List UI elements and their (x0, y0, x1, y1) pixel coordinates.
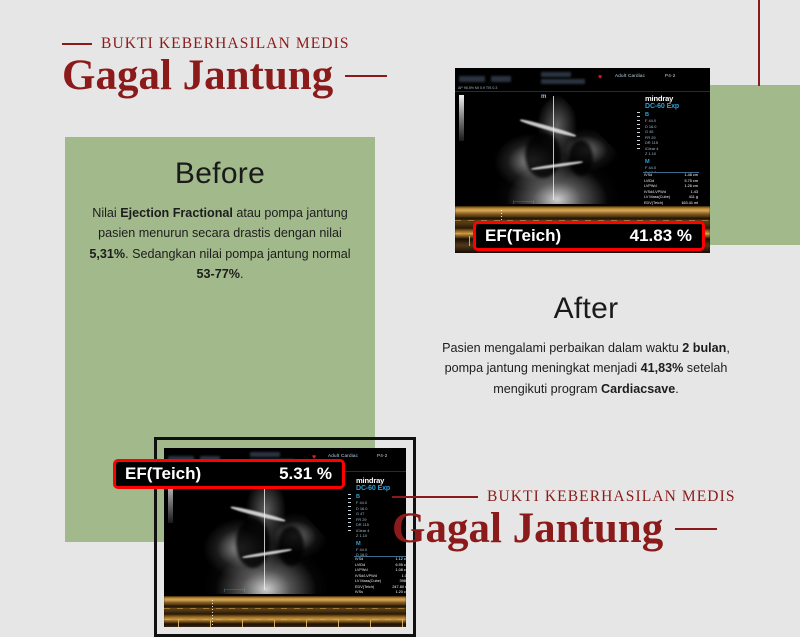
param-2d-6-top: Z 1.10 (645, 151, 699, 157)
ef-label-before: EF(Teich) (125, 464, 201, 484)
kicker-text-bottom: BUKTI KEBERHASILAN MEDIS (487, 488, 736, 506)
echo-sector-top (477, 92, 637, 204)
kicker-text-top: BUKTI KEBERHASILAN MEDIS (101, 35, 350, 53)
before-heading: Before (79, 157, 361, 191)
kicker-row-bottom: BUKTI KEBERHASILAN MEDIS (392, 487, 736, 507)
before-text-3: . Sedangkan nilai pompa jantung normal (125, 247, 350, 261)
echo-chamber-a (525, 132, 561, 178)
decorative-green-block-top-right (705, 85, 800, 245)
topbar-chip-b (491, 76, 511, 82)
kicker-row-top: BUKTI KEBERHASILAN MEDIS (62, 34, 387, 54)
before-bold-2: 5,31% (89, 247, 125, 261)
after-text-4: . (675, 382, 679, 396)
m-mode-band-1 (455, 206, 710, 218)
echo-chamber-b (569, 140, 593, 176)
topbar-chip-d (541, 79, 585, 84)
caliper-readout-top: |−−−−−−−−−| (513, 200, 534, 204)
m-marker-top: m (541, 94, 546, 100)
param-column-top: mindray DC-60 Exp B F 44.0 D 16.0 G 45 F… (645, 94, 699, 176)
before-bold-1: Ejection Fractional (120, 206, 233, 220)
after-bold-2: 41,83% (641, 361, 684, 375)
acquisition-text-top: AP 96.5% MI 0.9 TIS 0.3 (458, 86, 497, 90)
depth-ticks-top (637, 112, 641, 152)
after-panel: After Pasien mengalami perbaikan dalam w… (430, 288, 742, 399)
probe-label-bottom: P4-2 (377, 453, 388, 458)
m-mode-cursor-line-top (553, 96, 554, 200)
kicker-rule-left-icon (62, 43, 92, 45)
topbar-chip-c (250, 452, 280, 457)
brand-model-top: DC-60 Exp (645, 103, 699, 110)
kicker-rule-left-icon (392, 496, 478, 498)
heart-icon: ♥ (598, 74, 602, 81)
ecg-trace-bottom (164, 620, 406, 627)
page-title-top: Gagal Jantung (62, 52, 333, 100)
before-text-4: . (240, 267, 244, 281)
echo-chamber-b (278, 526, 304, 566)
before-text-1: Nilai (92, 206, 120, 220)
ultrasound-top-topbar: ♥ Adult Cardiac P4-2 (455, 68, 710, 85)
m-mode-strip-bottom (164, 596, 406, 627)
before-bold-3: 53-77% (197, 267, 240, 281)
ef-value-before: 5.31 % (279, 464, 332, 484)
before-body: Nilai Ejection Fractional atau pompa jan… (79, 203, 361, 285)
brand-name-bottom: mindray (356, 476, 406, 485)
brand-name-top: mindray (645, 94, 699, 103)
preset-label-top: Adult Cardiac (615, 73, 645, 78)
grayscale-bar-top (459, 95, 464, 141)
page-title-bottom: Gagal Jantung (392, 505, 663, 553)
ef-value-after: 41.83 % (630, 226, 692, 246)
after-body: Pasien mengalami perbaikan dalam waktu 2… (430, 338, 742, 399)
depth-ticks-bottom (348, 494, 352, 534)
topbar-chip-a (459, 76, 485, 82)
probe-label-top: P4-2 (665, 73, 676, 78)
ef-callout-after: EF(Teich) 41.83 % (473, 221, 705, 251)
after-text-1: Pasien mengalami perbaikan dalam waktu (442, 341, 682, 355)
title-rule-right-icon (675, 528, 717, 530)
m-mode-band-1 (164, 596, 406, 606)
headline-top: BUKTI KEBERHASILAN MEDIS Gagal Jantung (62, 34, 387, 100)
headline-bottom: BUKTI KEBERHASILAN MEDIS Gagal Jantung (392, 487, 736, 553)
caliper-readout-bottom: |−−−−−−−−−| (224, 588, 245, 592)
ef-label-after: EF(Teich) (485, 226, 561, 246)
preset-label-bottom: Adult Cardiac (328, 453, 358, 458)
m-mode-wave-1 (164, 608, 406, 609)
m-mode-cursor-line-bottom (264, 478, 265, 590)
ef-callout-before: EF(Teich) 5.31 % (113, 459, 345, 489)
echo-sector-bottom (186, 474, 346, 594)
after-bold-1: 2 bulan (682, 341, 726, 355)
title-row-top: Gagal Jantung (62, 52, 387, 100)
after-heading: After (430, 292, 742, 326)
decorative-vertical-rule (758, 0, 760, 86)
topbar-chip-c (541, 72, 571, 77)
title-rule-right-icon (345, 75, 387, 77)
m-mode-caliper-bottom (212, 600, 213, 627)
after-bold-3: Cardiacsave (601, 382, 675, 396)
title-row-bottom: Gagal Jantung (392, 505, 736, 553)
